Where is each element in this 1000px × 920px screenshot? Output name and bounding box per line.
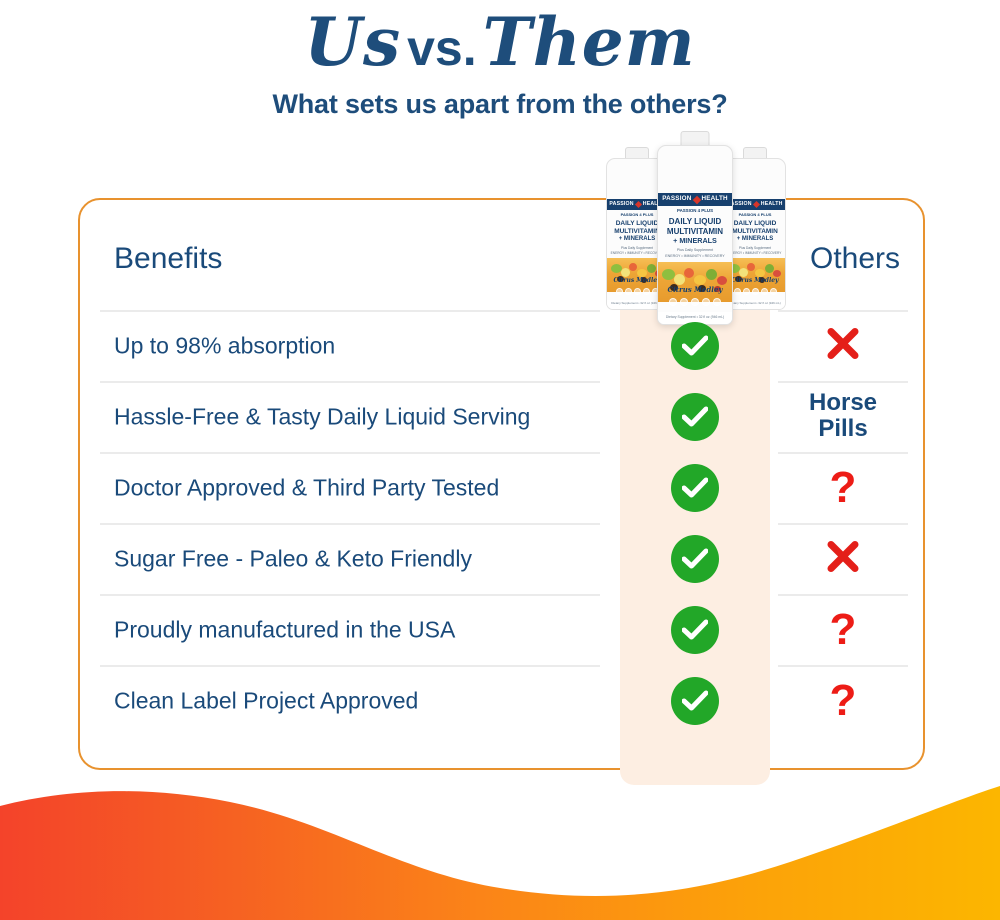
benefit-label: Sugar Free - Paleo & Keto Friendly <box>114 545 472 572</box>
table-row: Proudly manufactured in the USA? <box>78 594 925 665</box>
cross-icon <box>778 324 908 367</box>
question-mark-text: ? <box>778 608 908 652</box>
check-circle-icon <box>671 677 719 725</box>
table-row: Up to 98% absorption <box>78 310 925 381</box>
table-row: Hassle-Free & Tasty Daily Liquid Serving… <box>78 381 925 452</box>
question-mark-text: ? <box>778 679 908 723</box>
cross-icon <box>778 537 908 580</box>
row-divider-left <box>100 665 600 667</box>
title-vs: vs. <box>401 20 483 76</box>
row-divider-right <box>778 381 908 383</box>
others-text: HorsePills <box>778 390 908 444</box>
column-header-others: Others <box>790 242 920 276</box>
title-them: Them <box>483 3 696 81</box>
benefit-label: Up to 98% absorption <box>114 332 335 359</box>
row-divider-right <box>778 594 908 596</box>
row-divider-right <box>778 310 908 312</box>
row-divider-right <box>778 665 908 667</box>
question-mark-text: ? <box>778 466 908 510</box>
check-circle-icon <box>671 322 719 370</box>
decorative-wave <box>0 780 1000 920</box>
question-mark-icon: ? <box>778 679 908 723</box>
page-header: Usvs.Them What sets us apart from the ot… <box>0 0 1000 120</box>
question-mark-icon: ? <box>778 466 908 510</box>
check-circle-icon <box>671 535 719 583</box>
page-subtitle: What sets us apart from the others? <box>0 89 1000 120</box>
title-us: Us <box>304 3 401 81</box>
row-divider-left <box>100 594 600 596</box>
table-header-row: Benefits Others <box>78 198 925 310</box>
question-mark-icon: ? <box>778 608 908 652</box>
table-row: Doctor Approved & Third Party Tested? <box>78 452 925 523</box>
check-circle-icon <box>671 464 719 512</box>
check-circle-icon <box>671 393 719 441</box>
row-divider-left <box>100 452 600 454</box>
row-divider-left <box>100 381 600 383</box>
table-row: Sugar Free - Paleo & Keto Friendly <box>78 523 925 594</box>
comparison-table: Benefits Others Up to 98% absorptionHass… <box>78 198 925 770</box>
check-circle-icon <box>671 606 719 654</box>
table-row: Clean Label Project Approved? <box>78 665 925 736</box>
benefit-label: Clean Label Project Approved <box>114 687 418 714</box>
row-divider-left <box>100 310 600 312</box>
others-text-value: HorsePills <box>778 390 908 444</box>
row-divider-right <box>778 523 908 525</box>
benefit-label: Proudly manufactured in the USA <box>114 616 455 643</box>
benefit-label: Doctor Approved & Third Party Tested <box>114 474 499 501</box>
row-divider-left <box>100 523 600 525</box>
row-divider-right <box>778 452 908 454</box>
page-title: Usvs.Them <box>0 8 1000 77</box>
column-header-benefits: Benefits <box>114 242 222 276</box>
benefit-label: Hassle-Free & Tasty Daily Liquid Serving <box>114 403 530 430</box>
